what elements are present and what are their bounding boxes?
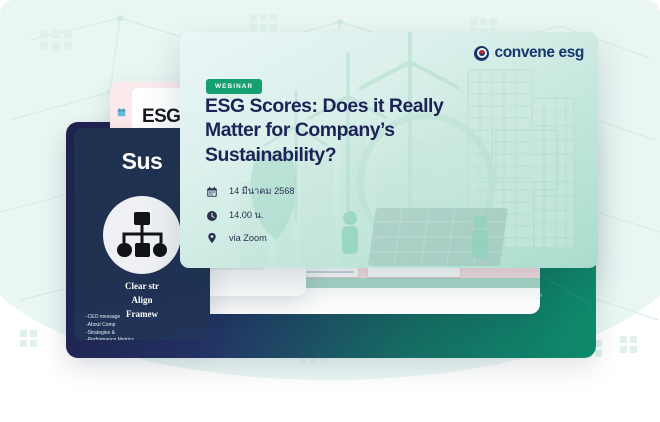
- webinar-badge: WEBINAR: [206, 79, 262, 94]
- clock-icon: [206, 210, 218, 222]
- convene-esg-logo[interactable]: convene esg: [474, 44, 584, 62]
- calendar-icon: [117, 108, 126, 117]
- navy-mid-line2: Align: [74, 294, 210, 308]
- meta-location-value: via Zoom: [229, 233, 267, 243]
- meta-row-date: 14 มีนาคม 2568: [206, 184, 294, 199]
- org-chart-icon: [117, 212, 167, 258]
- webinar-title: ESG Scores: Does it Really Matter for Co…: [205, 94, 480, 167]
- promo-composition: -CEO message -About Comp -Strategies & -…: [0, 0, 660, 422]
- logo-wordmark: convene esg: [494, 44, 584, 62]
- calendar-icon: [206, 186, 218, 198]
- convene-logo-icon: [474, 46, 489, 61]
- webinar-card[interactable]: convene esg WEBINAR ESG Scores: Does it …: [180, 32, 598, 268]
- navy-mid-line1: Clear str: [74, 280, 210, 294]
- logo-red-dot: [480, 50, 484, 54]
- meta-row-time: 14.00 น.: [206, 208, 294, 223]
- meta-row-location: via Zoom: [206, 232, 294, 244]
- location-pin-icon: [206, 232, 218, 244]
- webinar-meta-list: 14 มีนาคม 2568 14.00 น. via Zoom: [206, 184, 294, 244]
- meta-date-value: 14 มีนาคม 2568: [229, 184, 294, 199]
- meta-time-value: 14.00 น.: [229, 208, 263, 223]
- navy-card-bullets: -CEO message -About Comp -Strategies & -…: [86, 314, 134, 340]
